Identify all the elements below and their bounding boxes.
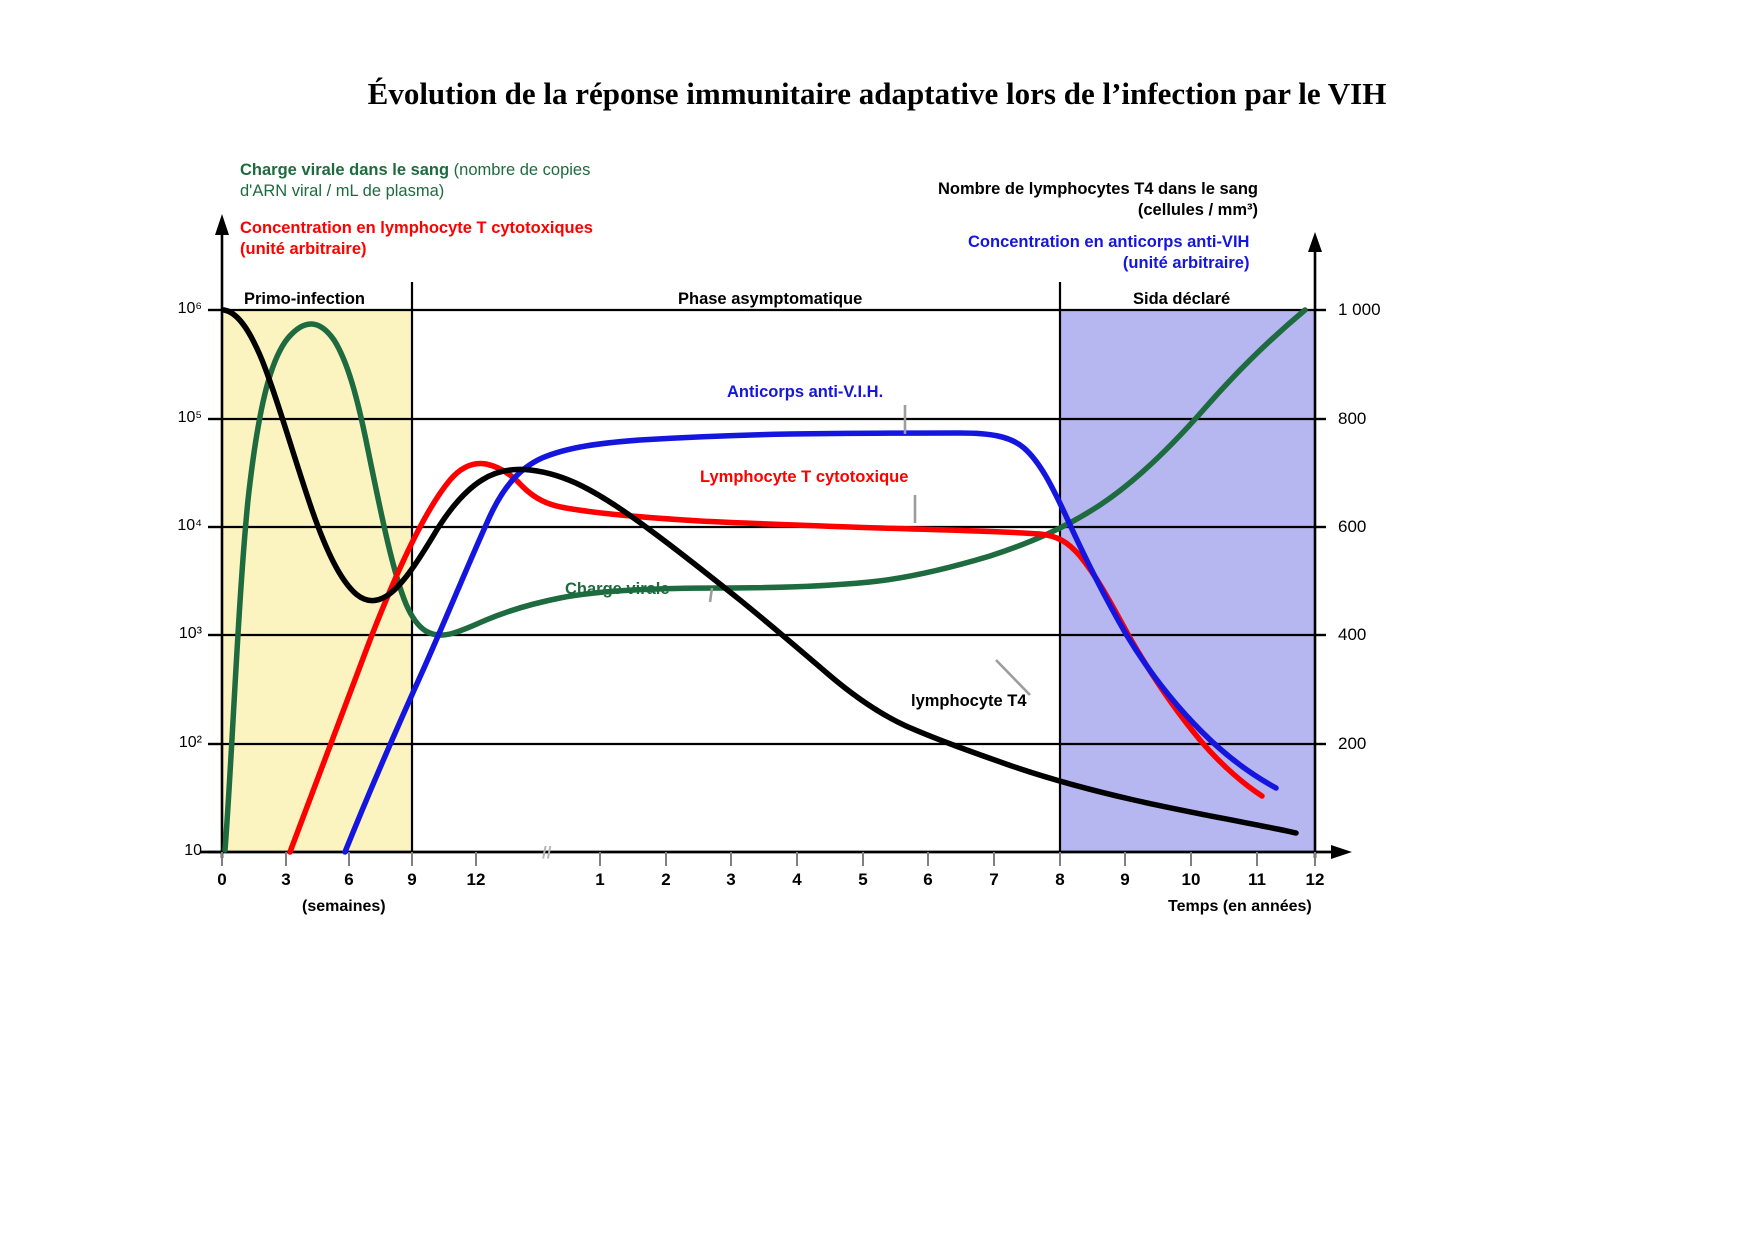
x-tick-year-6: 6 [913, 870, 943, 890]
y-right-ticks [1315, 310, 1326, 744]
curve-label-charge-virale: Charge virale [565, 580, 670, 599]
x-tick-year-2: 2 [651, 870, 681, 890]
curve-label-lymphocyte-t4: lymphocyte T4 [911, 692, 1027, 711]
y-left-tick-1e5: 10⁵ [142, 409, 202, 427]
x-tick-year-4: 4 [782, 870, 812, 890]
band-primo-infection [222, 310, 412, 852]
phase-label-primo-infection: Primo-infection [244, 290, 365, 309]
x-tick-week-0: 0 [207, 870, 237, 890]
y-left-tick-1e3: 10³ [142, 625, 202, 643]
axis-break-marker: // [542, 843, 552, 862]
y-left-tick-1e2: 10² [142, 734, 202, 752]
y-right-tick-400: 400 [1338, 625, 1366, 645]
y-left-ticks [208, 310, 222, 852]
x-ticks-years [600, 852, 1315, 866]
phase-label-sida-declare: Sida déclaré [1133, 290, 1230, 309]
curve-label-anticorps-anti-vih: Anticorps anti-V.I.H. [727, 383, 883, 402]
x-axis-unit-weeks: (semaines) [302, 898, 386, 916]
x-tick-year-7: 7 [979, 870, 1009, 890]
y-right-tick-800: 800 [1338, 409, 1366, 429]
y-left-tick-10: 10 [142, 842, 202, 860]
x-tick-year-10: 10 [1173, 870, 1209, 890]
y-axis-left-arrow-icon [215, 214, 229, 235]
y-left-tick-1e6: 10⁶ [142, 300, 202, 318]
y-right-tick-200: 200 [1338, 734, 1366, 754]
y-right-tick-1000: 1 000 [1338, 300, 1381, 320]
y-axis-right-arrow-icon [1308, 232, 1322, 252]
figure-page: Évolution de la réponse immunitaire adap… [0, 0, 1754, 1240]
x-axis-arrow-icon [1331, 845, 1352, 859]
x-tick-year-8: 8 [1045, 870, 1075, 890]
x-ticks-weeks [222, 852, 476, 866]
x-tick-year-1: 1 [585, 870, 615, 890]
x-tick-year-11: 11 [1239, 870, 1275, 890]
chart-plot-area: // [0, 0, 1754, 1240]
x-tick-week-6: 6 [334, 870, 364, 890]
curve-label-lymphocyte-t-cytotoxique: Lymphocyte T cytotoxique [700, 468, 908, 487]
x-tick-year-5: 5 [848, 870, 878, 890]
x-tick-year-9: 9 [1110, 870, 1140, 890]
x-tick-week-12: 12 [458, 870, 494, 890]
x-tick-year-12: 12 [1297, 870, 1333, 890]
x-tick-week-3: 3 [271, 870, 301, 890]
y-left-tick-1e4: 10⁴ [142, 517, 202, 535]
x-tick-week-9: 9 [397, 870, 427, 890]
x-axis-unit-years: Temps (en années) [1168, 898, 1312, 916]
x-tick-year-3: 3 [716, 870, 746, 890]
y-right-tick-600: 600 [1338, 517, 1366, 537]
phase-label-phase-asymptomatique: Phase asymptomatique [678, 290, 862, 309]
